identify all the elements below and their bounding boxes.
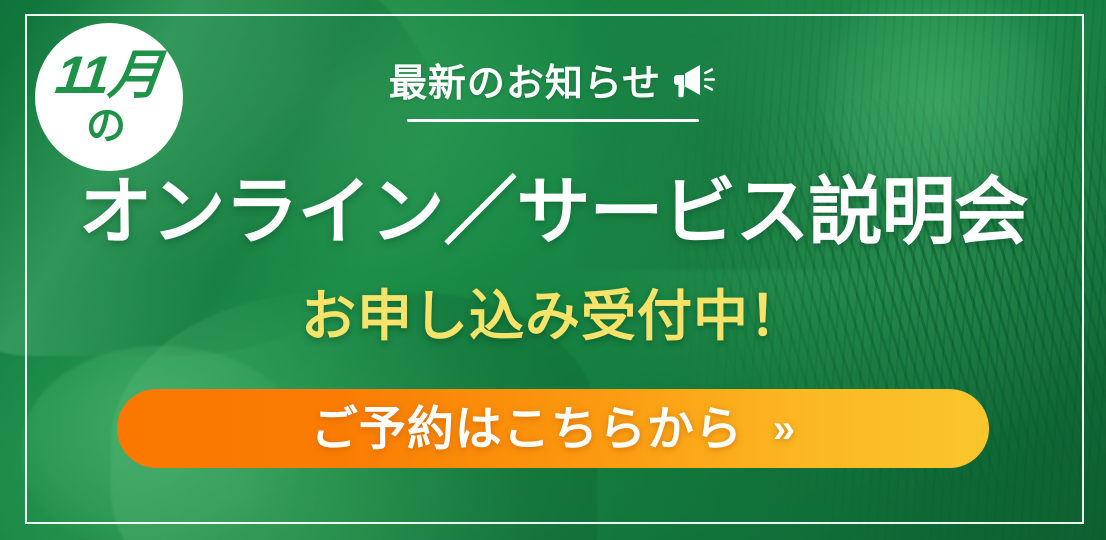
reservation-cta-label: ご予約はこちらから <box>311 405 743 452</box>
megaphone-icon <box>671 61 717 99</box>
promo-banner: 11月 の 最新のお知らせ オンライン／サービス説明会 お申し込み受付中！ ご予… <box>0 0 1106 540</box>
eyebrow-underline <box>407 119 699 122</box>
subtitle: お申し込み受付中！ <box>0 289 1106 344</box>
month-badge-possessive: の <box>86 106 126 146</box>
month-badge-month: 11月 <box>53 49 165 102</box>
reservation-cta-button[interactable]: ご予約はこちらから » <box>117 389 989 468</box>
eyebrow-label: 最新のお知らせ <box>389 52 661 107</box>
eyebrow-row: 最新のお知らせ <box>389 52 717 107</box>
page-title: オンライン／サービス説明会 <box>0 175 1106 249</box>
chevron-right-icon: » <box>773 409 795 449</box>
month-badge: 11月 の <box>35 23 183 171</box>
